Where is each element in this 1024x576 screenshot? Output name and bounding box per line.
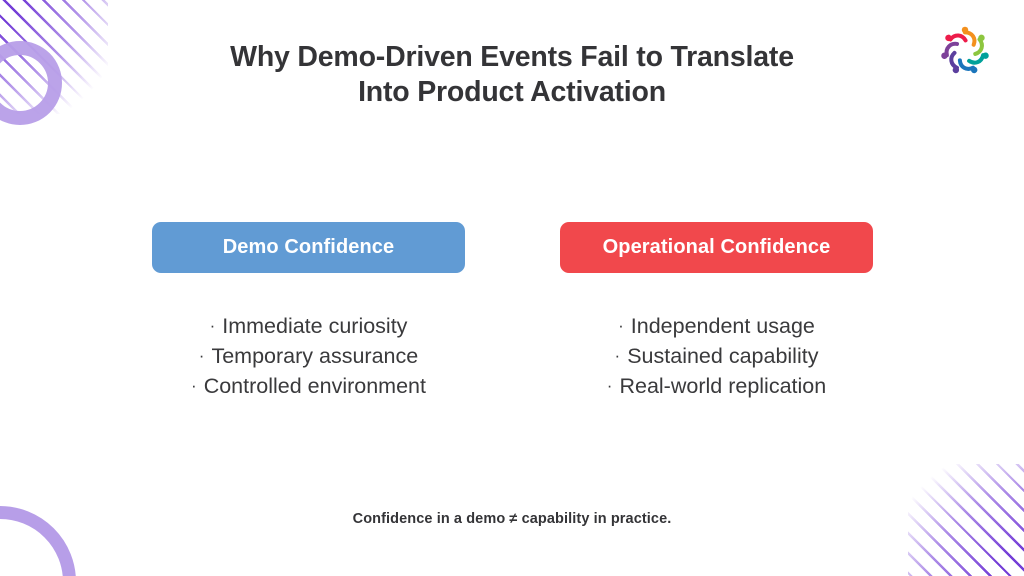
list-item: ·Temporary assurance xyxy=(152,341,465,371)
bullet-list-operational-confidence: ·Independent usage ·Sustained capability… xyxy=(560,311,873,401)
bullet-dot-icon: · xyxy=(191,371,197,400)
list-item-label: Real-world replication xyxy=(619,374,826,398)
bullet-dot-icon: · xyxy=(618,311,624,340)
list-item: ·Controlled environment xyxy=(152,371,465,401)
column-demo-confidence: Demo Confidence ·Immediate curiosity ·Te… xyxy=(152,222,465,401)
bullet-dot-icon: · xyxy=(210,311,216,340)
bullet-dot-icon: · xyxy=(607,371,613,400)
list-item-label: Immediate curiosity xyxy=(222,314,407,338)
slide-canvas: Why Demo-Driven Events Fail to Translate… xyxy=(0,0,1024,576)
list-item-label: Independent usage xyxy=(631,314,815,338)
slide-title: Why Demo-Driven Events Fail to Translate… xyxy=(0,40,1024,110)
slide-title-line-1: Why Demo-Driven Events Fail to Translate xyxy=(0,40,1024,75)
slide-title-line-2: Into Product Activation xyxy=(0,75,1024,110)
comparison-columns: Demo Confidence ·Immediate curiosity ·Te… xyxy=(152,222,873,401)
slide-footer-note: Confidence in a demo ≠ capability in pra… xyxy=(0,511,1024,527)
list-item-label: Controlled environment xyxy=(204,374,426,398)
list-item: ·Real-world replication xyxy=(560,371,873,401)
list-item: ·Independent usage xyxy=(560,311,873,341)
bullet-dot-icon: · xyxy=(615,341,621,370)
header-pill-operational-confidence: Operational Confidence xyxy=(560,222,873,273)
list-item-label: Sustained capability xyxy=(627,344,818,368)
bullet-dot-icon: · xyxy=(199,341,205,370)
list-item: ·Immediate curiosity xyxy=(152,311,465,341)
header-pill-demo-confidence-label: Demo Confidence xyxy=(223,236,395,259)
list-item-label: Temporary assurance xyxy=(211,344,418,368)
header-pill-demo-confidence: Demo Confidence xyxy=(152,222,465,273)
list-item: ·Sustained capability xyxy=(560,341,873,371)
column-operational-confidence: Operational Confidence ·Independent usag… xyxy=(560,222,873,401)
header-pill-operational-confidence-label: Operational Confidence xyxy=(603,236,831,259)
bullet-list-demo-confidence: ·Immediate curiosity ·Temporary assuranc… xyxy=(152,311,465,401)
